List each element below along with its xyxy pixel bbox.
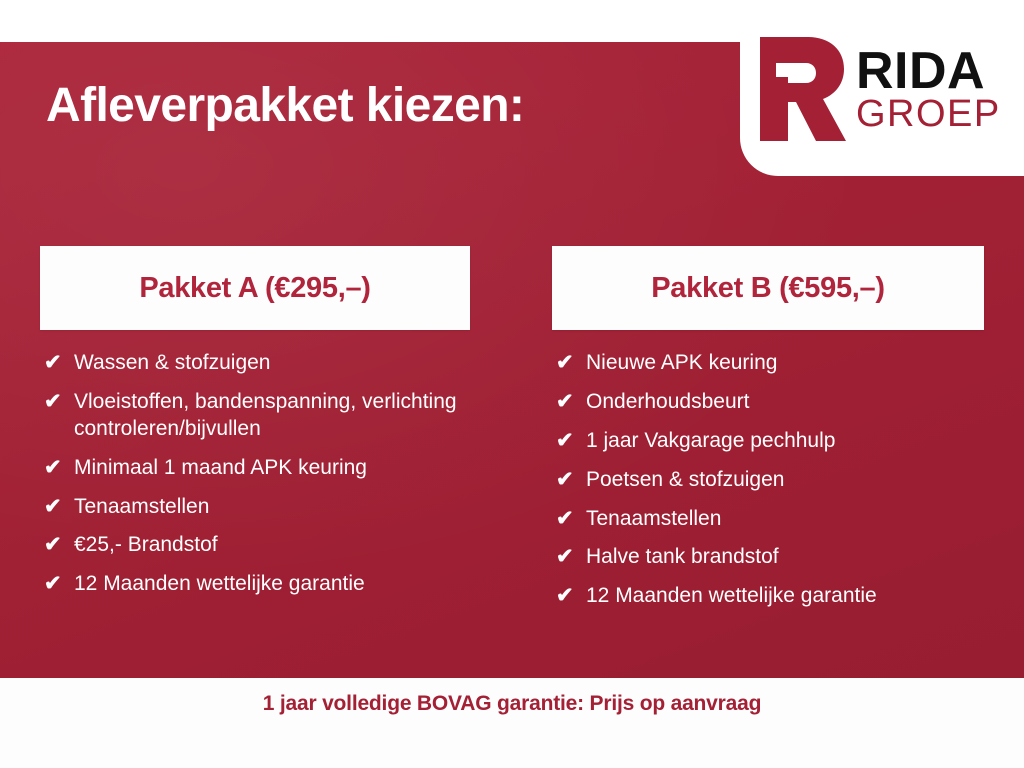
- logo-primary-text: RIDA: [856, 47, 1001, 96]
- logo-wordmark: RIDA GROEP: [856, 47, 1001, 133]
- rida-r-monogram-icon: [754, 33, 850, 145]
- list-item: ✔ 1 jaar Vakgarage pechhulp: [556, 428, 984, 455]
- check-icon: ✔: [556, 389, 586, 416]
- check-icon: ✔: [44, 389, 74, 416]
- slide-canvas: RIDA GROEP Afleverpakket kiezen: Pakket …: [0, 0, 1024, 768]
- check-icon: ✔: [556, 583, 586, 610]
- check-icon: ✔: [556, 506, 586, 533]
- package-a-title: Pakket A (€295,–): [139, 272, 370, 305]
- check-icon: ✔: [556, 544, 586, 571]
- feature-text: 12 Maanden wettelijke garantie: [74, 571, 470, 598]
- list-item: ✔ Wassen & stofzuigen: [44, 350, 470, 377]
- list-item: ✔ Halve tank brandstof: [556, 544, 984, 571]
- package-column-b: Pakket B (€595,–) ✔ Nieuwe APK keuring ✔…: [552, 246, 984, 622]
- feature-text: Halve tank brandstof: [586, 544, 984, 571]
- list-item: ✔ 12 Maanden wettelijke garantie: [556, 583, 984, 610]
- package-b-title: Pakket B (€595,–): [651, 272, 885, 305]
- list-item: ✔ Vloeistoffen, bandenspanning, verlicht…: [44, 389, 470, 443]
- footer-text: 1 jaar volledige BOVAG garantie: Prijs o…: [263, 692, 761, 716]
- feature-text: Tenaamstellen: [586, 506, 984, 533]
- feature-text: €25,- Brandstof: [74, 532, 470, 559]
- check-icon: ✔: [44, 571, 74, 598]
- check-icon: ✔: [556, 350, 586, 377]
- package-a-feature-list: ✔ Wassen & stofzuigen ✔ Vloeistoffen, ba…: [40, 330, 470, 598]
- package-b-feature-list: ✔ Nieuwe APK keuring ✔ Onderhoudsbeurt ✔…: [552, 330, 984, 610]
- feature-text: Tenaamstellen: [74, 494, 470, 521]
- packages-container: Pakket A (€295,–) ✔ Wassen & stofzuigen …: [0, 246, 1024, 622]
- list-item: ✔ Tenaamstellen: [556, 506, 984, 533]
- list-item: ✔ €25,- Brandstof: [44, 532, 470, 559]
- list-item: ✔ Onderhoudsbeurt: [556, 389, 984, 416]
- check-icon: ✔: [44, 350, 74, 377]
- list-item: ✔ 12 Maanden wettelijke garantie: [44, 571, 470, 598]
- check-icon: ✔: [44, 494, 74, 521]
- list-item: ✔ Minimaal 1 maand APK keuring: [44, 455, 470, 482]
- check-icon: ✔: [44, 532, 74, 559]
- package-a-header-card[interactable]: Pakket A (€295,–): [40, 246, 470, 330]
- package-b-header-card[interactable]: Pakket B (€595,–): [552, 246, 984, 330]
- feature-text: Minimaal 1 maand APK keuring: [74, 455, 470, 482]
- check-icon: ✔: [556, 428, 586, 455]
- logo-secondary-text: GROEP: [856, 97, 1001, 133]
- package-column-a: Pakket A (€295,–) ✔ Wassen & stofzuigen …: [40, 246, 470, 622]
- brand-logo-plate: RIDA GROEP: [740, 0, 1024, 176]
- feature-text: Nieuwe APK keuring: [586, 350, 984, 377]
- feature-text: 1 jaar Vakgarage pechhulp: [586, 428, 984, 455]
- feature-text: Vloeistoffen, bandenspanning, verlichtin…: [74, 389, 470, 443]
- list-item: ✔ Poetsen & stofzuigen: [556, 467, 984, 494]
- feature-text: Onderhoudsbeurt: [586, 389, 984, 416]
- list-item: ✔ Tenaamstellen: [44, 494, 470, 521]
- footer-band: 1 jaar volledige BOVAG garantie: Prijs o…: [0, 678, 1024, 768]
- feature-text: Poetsen & stofzuigen: [586, 467, 984, 494]
- feature-text: 12 Maanden wettelijke garantie: [586, 583, 984, 610]
- check-icon: ✔: [44, 455, 74, 482]
- check-icon: ✔: [556, 467, 586, 494]
- page-title: Afleverpakket kiezen:: [46, 78, 524, 133]
- list-item: ✔ Nieuwe APK keuring: [556, 350, 984, 377]
- feature-text: Wassen & stofzuigen: [74, 350, 470, 377]
